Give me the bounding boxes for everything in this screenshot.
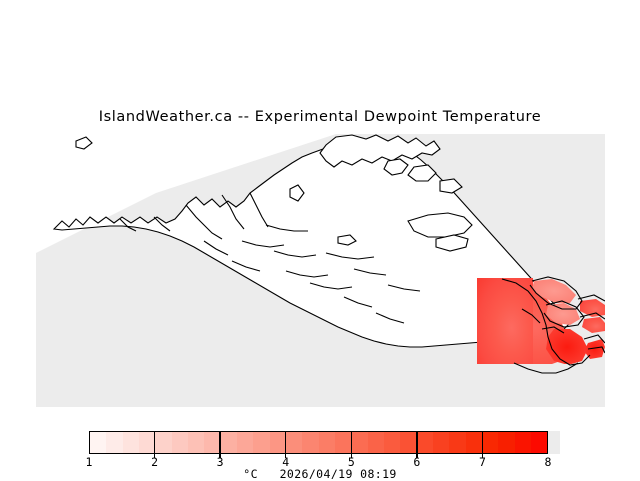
colorbar-segment [221,432,237,453]
colorbar-gradient[interactable] [89,431,548,454]
figure-title: IslandWeather.ca -- Experimental Dewpoin… [0,109,640,125]
colorbar-segment [482,432,498,453]
colorbar-segment [319,432,335,453]
colorbar-segment [384,432,400,453]
map-panel[interactable] [36,133,605,407]
map-svg[interactable] [36,133,605,407]
colorbar-segment [204,432,220,453]
colorbar-segment [155,432,171,453]
colorbar-segment [498,432,514,453]
colorbar-segment [106,432,122,453]
colorbar-segment [351,432,367,453]
colorbar-segment [188,432,204,453]
colorbar-segment [433,432,449,453]
colorbar-overflow-patch [548,431,560,454]
colorbar-segment [286,432,302,453]
weather-map-figure: IslandWeather.ca -- Experimental Dewpoin… [0,0,640,480]
colorbar-segment [270,432,286,453]
colorbar-segment [302,432,318,453]
colorbar-segment [237,432,253,453]
colorbar-segment [466,432,482,453]
dew-field-block [477,278,533,364]
colorbar-segment [172,432,188,453]
colorbar-segment [139,432,155,453]
colorbar-segment [123,432,139,453]
colorbar-segment [368,432,384,453]
colorbar-segment [400,432,416,453]
colorbar-caption: °C 2026/04/19 08:19 [0,467,640,481]
colorbar-segment [90,432,106,453]
colorbar-segment [449,432,465,453]
colorbar-segment [253,432,269,453]
colorbar-segment [335,432,351,453]
units-label: °C [243,467,258,481]
timestamp-label: 2026/04/19 08:19 [280,467,397,481]
colorbar-segment [417,432,433,453]
colorbar-segment [531,432,547,453]
colorbar-segment [515,432,531,453]
colorbar[interactable] [89,431,548,454]
